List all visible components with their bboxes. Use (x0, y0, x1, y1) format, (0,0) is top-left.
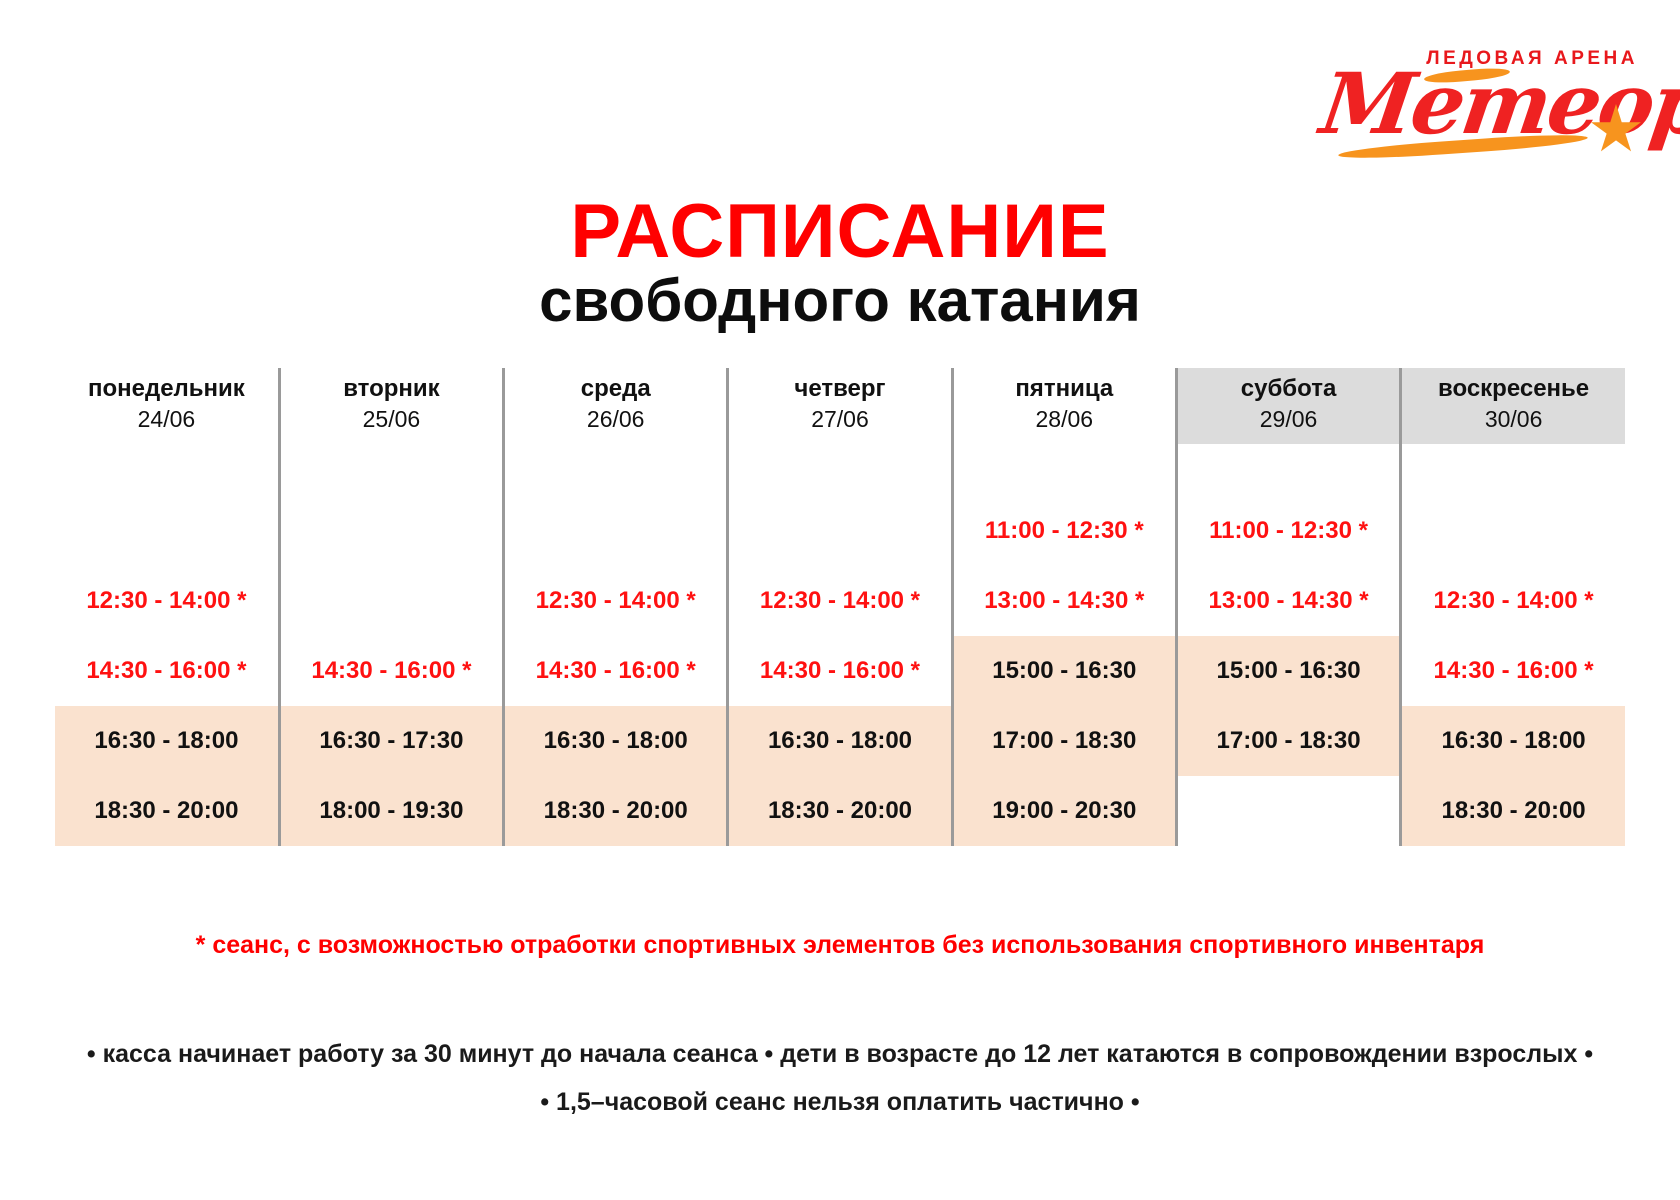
session-cell-practice: 13:00 - 14:30 * (952, 566, 1176, 636)
day-name: воскресенье (1404, 374, 1623, 404)
session-cell-practice: 12:30 - 14:00 * (504, 566, 728, 636)
note-line-1: • касса начинает работу за 30 минут до н… (0, 1030, 1680, 1078)
column-header-4: четверг27/06 (728, 368, 952, 444)
session-cell-evening: 15:00 - 16:30 (1176, 636, 1400, 706)
session-cell-practice: 12:30 - 14:00 * (55, 566, 279, 636)
session-cell-evening: 19:00 - 20:30 (952, 776, 1176, 846)
column-header-7: воскресенье30/06 (1401, 368, 1625, 444)
session-cell-practice: 14:30 - 16:00 * (728, 636, 952, 706)
session-cell-empty (1401, 496, 1625, 566)
column-header-6: суббота29/06 (1176, 368, 1400, 444)
session-cell-empty (728, 496, 952, 566)
session-cell-evening: 18:00 - 19:30 (279, 776, 503, 846)
day-date: 27/06 (731, 404, 948, 434)
day-date: 26/06 (507, 404, 724, 434)
table-row: 12:30 - 14:00 *12:30 - 14:00 *12:30 - 14… (55, 566, 1625, 636)
session-cell-evening: 16:30 - 18:00 (728, 706, 952, 776)
day-name: суббота (1180, 374, 1397, 404)
day-date: 29/06 (1180, 404, 1397, 434)
session-cell-evening: 18:30 - 20:00 (728, 776, 952, 846)
session-cell-practice: 13:00 - 14:30 * (1176, 566, 1400, 636)
session-cell-evening: 18:30 - 20:00 (1401, 776, 1625, 846)
spacer-cell (952, 444, 1176, 496)
spacer-cell (728, 444, 952, 496)
schedule-table-body: 11:00 - 12:30 *11:00 - 12:30 *12:30 - 14… (55, 444, 1625, 846)
session-cell-empty (1176, 776, 1400, 846)
session-cell-evening: 16:30 - 17:30 (279, 706, 503, 776)
session-cell-evening: 18:30 - 20:00 (55, 776, 279, 846)
session-cell-practice: 12:30 - 14:00 * (1401, 566, 1625, 636)
session-cell-empty (55, 496, 279, 566)
session-cell-evening: 17:00 - 18:30 (952, 706, 1176, 776)
spacer-cell (279, 444, 503, 496)
session-cell-evening: 17:00 - 18:30 (1176, 706, 1400, 776)
day-name: четверг (731, 374, 948, 404)
column-header-1: понедельник24/06 (55, 368, 279, 444)
session-cell-practice: 14:30 - 16:00 * (55, 636, 279, 706)
schedule-table-container: понедельник24/06вторник25/06среда26/06че… (55, 368, 1625, 846)
day-date: 28/06 (956, 404, 1173, 434)
column-header-5: пятница28/06 (952, 368, 1176, 444)
session-cell-practice: 12:30 - 14:00 * (728, 566, 952, 636)
session-cell-empty (504, 496, 728, 566)
note-line-2: • 1,5–часовой сеанс нельзя оплатить част… (0, 1078, 1680, 1126)
day-name: пятница (956, 374, 1173, 404)
page-title: РАСПИСАНИЕ (0, 192, 1680, 272)
session-cell-evening: 18:30 - 20:00 (504, 776, 728, 846)
table-row: 11:00 - 12:30 *11:00 - 12:30 * (55, 496, 1625, 566)
bottom-notes: • касса начинает работу за 30 минут до н… (0, 1030, 1680, 1126)
session-cell-evening: 16:30 - 18:00 (55, 706, 279, 776)
session-cell-evening: 16:30 - 18:00 (1401, 706, 1625, 776)
day-date: 30/06 (1404, 404, 1623, 434)
column-header-3: среда26/06 (504, 368, 728, 444)
day-name: вторник (283, 374, 500, 404)
asterisk-footnote: * сеанс, с возможностью отработки спорти… (0, 928, 1680, 962)
spacer-cell (1401, 444, 1625, 496)
spacer-cell (55, 444, 279, 496)
day-name: понедельник (57, 374, 276, 404)
day-date: 24/06 (57, 404, 276, 434)
column-header-2: вторник25/06 (279, 368, 503, 444)
day-name: среда (507, 374, 724, 404)
session-cell-evening: 15:00 - 16:30 (952, 636, 1176, 706)
session-cell-practice: 14:30 - 16:00 * (504, 636, 728, 706)
header-row: понедельник24/06вторник25/06среда26/06че… (55, 368, 1625, 444)
session-cell-empty (279, 566, 503, 636)
spacer-cell (504, 444, 728, 496)
table-row: 14:30 - 16:00 *14:30 - 16:00 *14:30 - 16… (55, 636, 1625, 706)
spacer-cell (1176, 444, 1400, 496)
table-row: 16:30 - 18:0016:30 - 17:3016:30 - 18:001… (55, 706, 1625, 776)
session-cell-evening: 16:30 - 18:00 (504, 706, 728, 776)
schedule-table-head: понедельник24/06вторник25/06среда26/06че… (55, 368, 1625, 444)
spacer-row (55, 444, 1625, 496)
session-cell-empty (279, 496, 503, 566)
session-cell-practice: 11:00 - 12:30 * (952, 496, 1176, 566)
brand-logo: ЛЕДОВАЯ АРЕНА Метеор (1312, 30, 1642, 170)
session-cell-practice: 14:30 - 16:00 * (279, 636, 503, 706)
schedule-table: понедельник24/06вторник25/06среда26/06че… (55, 368, 1625, 846)
day-date: 25/06 (283, 404, 500, 434)
table-row: 18:30 - 20:0018:00 - 19:3018:30 - 20:001… (55, 776, 1625, 846)
page-subtitle: свободного катания (0, 268, 1680, 334)
session-cell-practice: 14:30 - 16:00 * (1401, 636, 1625, 706)
session-cell-practice: 11:00 - 12:30 * (1176, 496, 1400, 566)
